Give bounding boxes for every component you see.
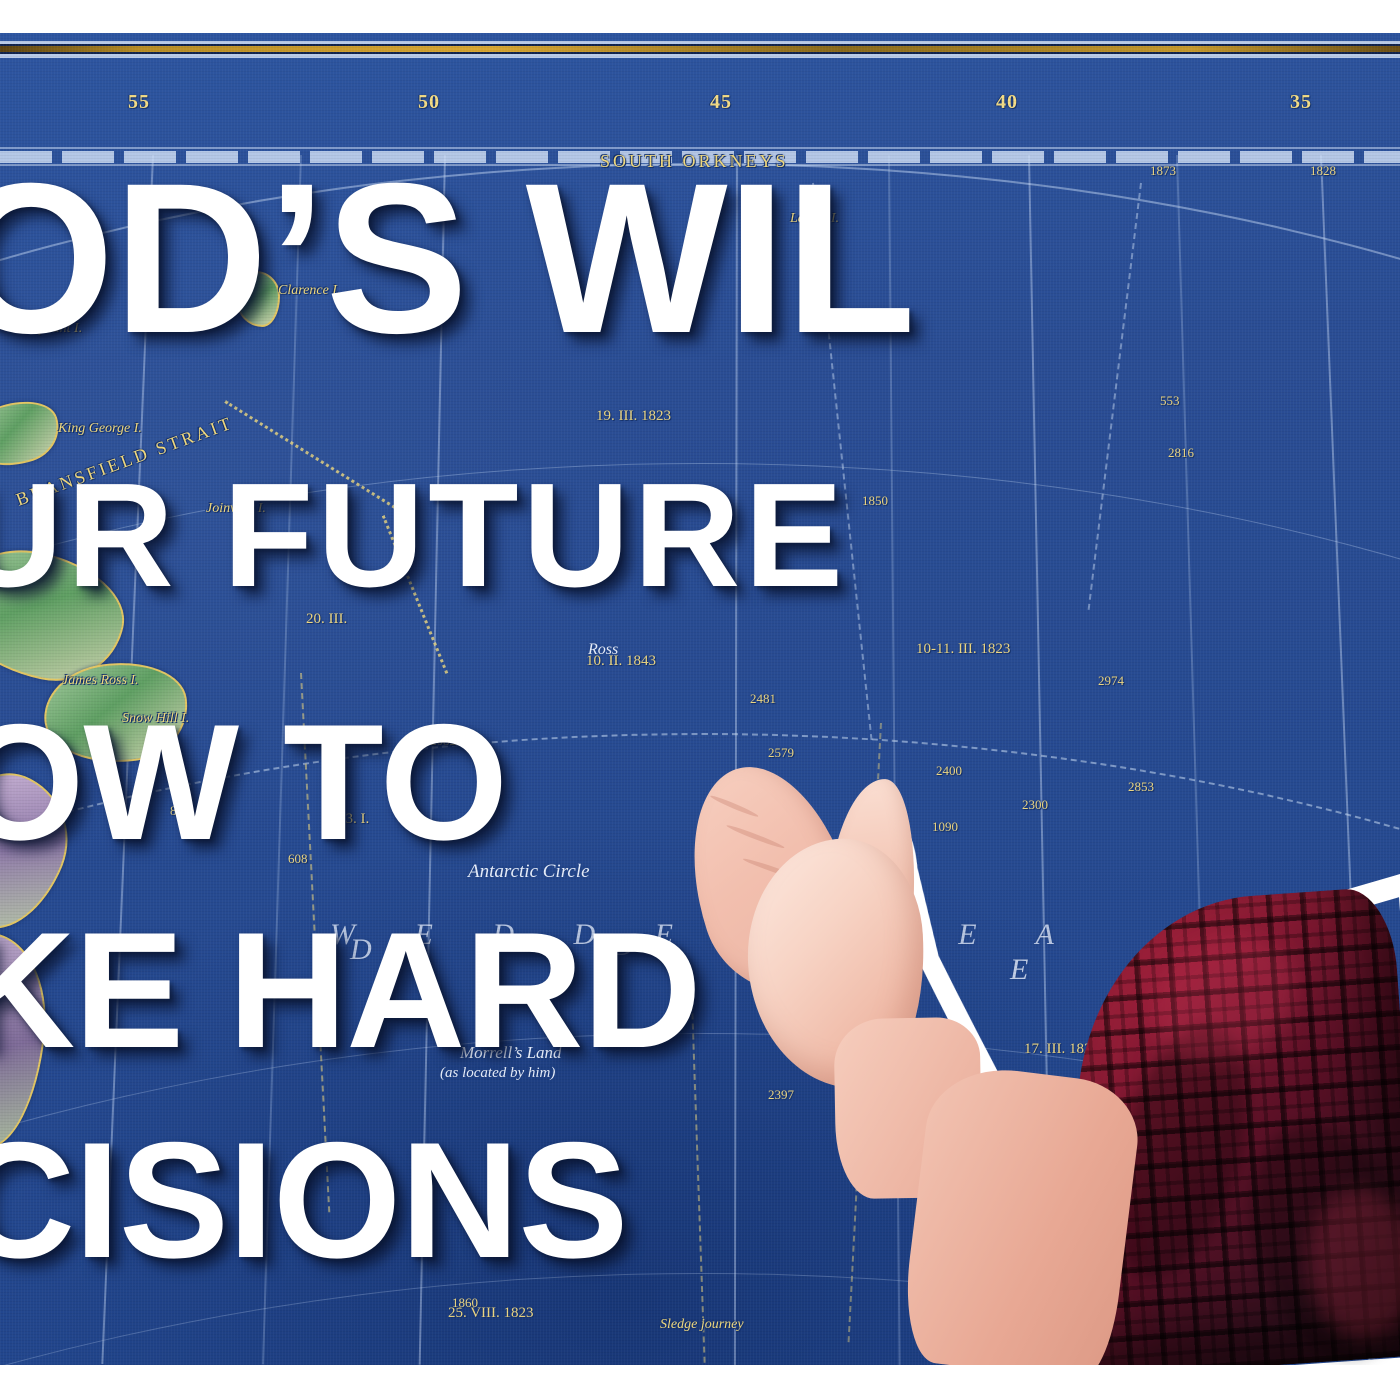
title-line-1: OD’S WIL [0, 152, 915, 366]
title-block: OD’S WIL UR FUTURE OW TO KE HARD CISIONS [0, 0, 1400, 1400]
title-line-3: OW TO [0, 700, 507, 865]
youtube-thumbnail-poster: 55 50 45 40 35 SOUTH [0, 0, 1400, 1400]
bottom-white-band [0, 1365, 1400, 1400]
title-line-4: KE HARD [0, 908, 701, 1073]
title-line-2: UR FUTURE [0, 462, 847, 610]
top-white-band [0, 0, 1400, 33]
title-line-5: CISIONS [0, 1118, 627, 1283]
